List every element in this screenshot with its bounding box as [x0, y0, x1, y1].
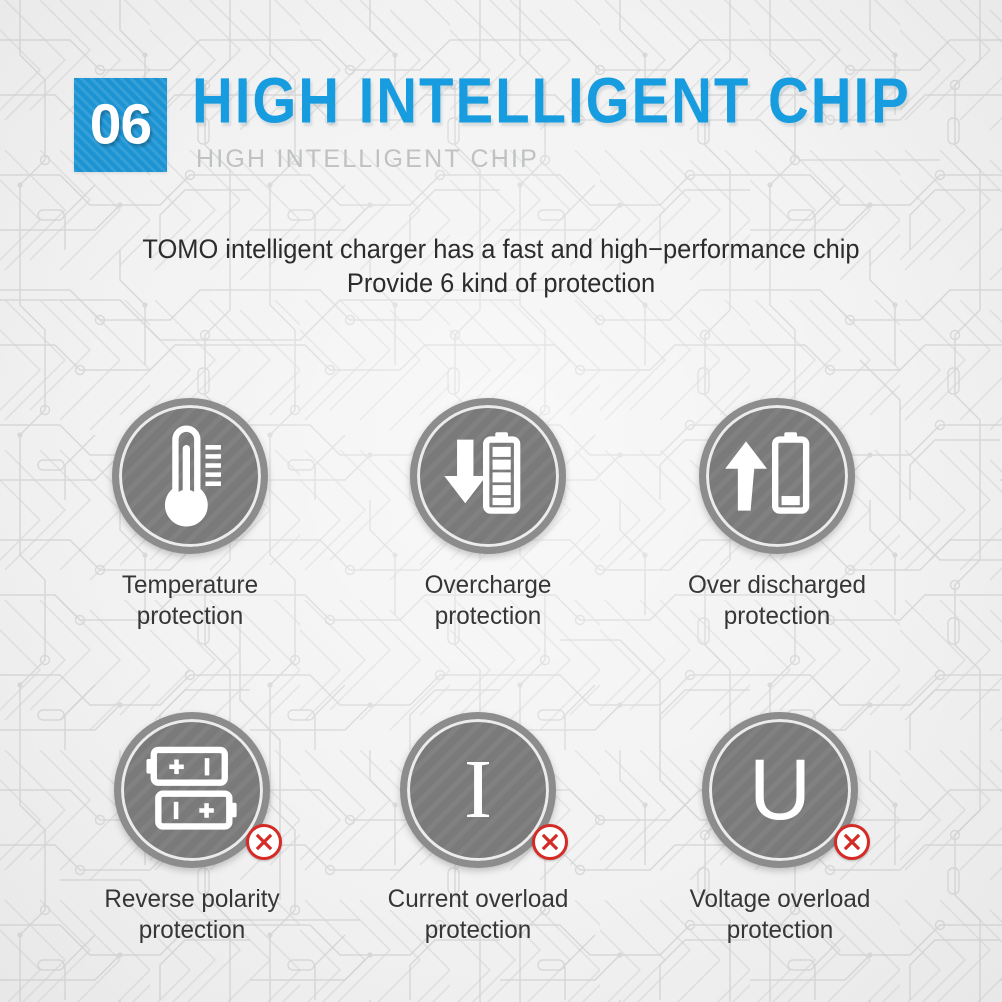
feature-item-temperature: Temperature protection	[40, 392, 340, 632]
intro-line-1: TOMO intelligent charger has a fast and …	[20, 232, 982, 266]
close-x-icon	[841, 831, 863, 853]
overcharge-disc	[410, 398, 566, 554]
feature-item-overcharge: Overcharge protection	[338, 392, 638, 632]
caption-line-1: Temperature	[45, 570, 336, 601]
feature-item-current-overload: I Current overload protection	[328, 706, 628, 946]
current-symbol-i-icon: I	[407, 719, 549, 861]
caption-line-2: protection	[47, 915, 338, 946]
feature-item-voltage-overload: U Voltage overload protection	[630, 706, 930, 946]
infographic-panel: 06 HIGH INTELLIGENT CHIP HIGH INTELLIGEN…	[0, 0, 1002, 1002]
page-title: HIGH INTELLIGENT CHIP	[192, 70, 911, 134]
caption-line-2: protection	[333, 915, 624, 946]
error-badge	[834, 824, 870, 860]
intro-line-2: Provide 6 kind of protection	[20, 266, 982, 300]
caption-line-1: Over discharged	[632, 570, 923, 601]
header: 06 HIGH INTELLIGENT CHIP HIGH INTELLIGEN…	[0, 0, 1002, 200]
arrow-up-battery-empty-icon	[706, 405, 848, 547]
over-discharged-disc	[699, 398, 855, 554]
feature-caption: Temperature protection	[45, 570, 336, 632]
close-x-icon	[253, 831, 275, 853]
section-number-badge: 06	[74, 78, 167, 172]
reverse-battery-polarity-icon	[121, 719, 263, 861]
caption-line-2: protection	[632, 601, 923, 632]
arrow-down-battery-full-icon	[417, 405, 559, 547]
voltage-symbol-u-icon: U	[709, 719, 851, 861]
feature-caption: Reverse polarity protection	[47, 884, 338, 946]
caption-line-1: Current overload	[333, 884, 624, 915]
caption-line-1: Voltage overload	[635, 884, 926, 915]
feature-item-over-discharged: Over discharged protection	[627, 392, 927, 632]
caption-line-1: Overcharge	[343, 570, 634, 601]
close-x-icon	[539, 831, 561, 853]
intro-text: TOMO intelligent charger has a fast and …	[0, 232, 1002, 300]
section-number: 06	[74, 97, 167, 154]
feature-caption: Voltage overload protection	[635, 884, 926, 946]
page-subtitle: HIGH INTELLIGENT CHIP	[196, 145, 539, 174]
error-badge	[532, 824, 568, 860]
error-badge	[246, 824, 282, 860]
feature-caption: Overcharge protection	[343, 570, 634, 632]
feature-caption: Current overload protection	[333, 884, 624, 946]
caption-line-2: protection	[635, 915, 926, 946]
caption-line-2: protection	[45, 601, 336, 632]
temperature-disc	[112, 398, 268, 554]
thermometer-icon	[119, 405, 261, 547]
caption-line-1: Reverse polarity	[47, 884, 338, 915]
feature-caption: Over discharged protection	[632, 570, 923, 632]
caption-line-2: protection	[343, 601, 634, 632]
feature-item-reverse-polarity: Reverse polarity protection	[42, 706, 342, 946]
